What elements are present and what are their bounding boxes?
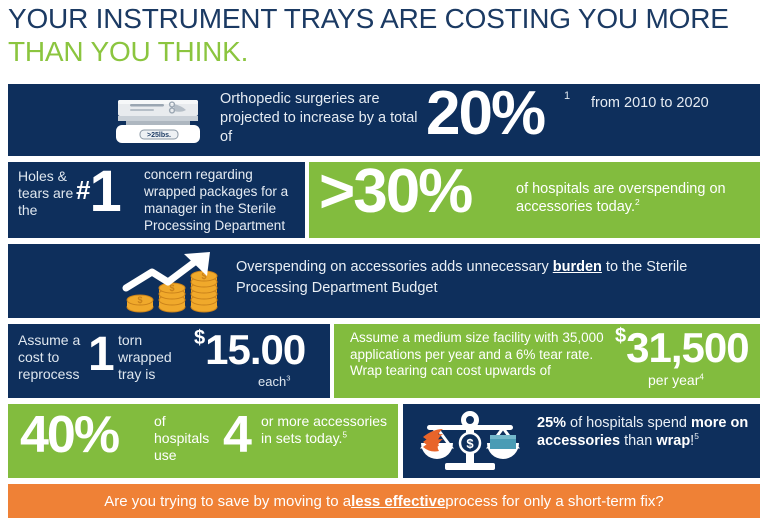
row5-right-stat: 25% [537,415,566,431]
row5-right-text: 25% of hospitals spend more on accessori… [537,414,753,450]
row4-right-unit-footnote: 4 [699,372,704,381]
balance-scale-icon: $ [415,411,527,471]
row3-text-before: Overspending on accessories adds unneces… [236,259,553,275]
svg-text:$: $ [466,436,474,451]
infographic-page: YOUR INSTRUMENT TRAYS ARE COSTING YOU MO… [0,0,768,526]
row5-percent-value: 40% [20,398,118,472]
row4-left-count: 1 [88,318,115,392]
row5-count-footnote: 5 [342,430,347,439]
currency-symbol: $ [615,325,626,347]
row4-right-unit-label: per year [648,372,699,388]
row2-stat-value: >30% [319,154,471,230]
stat-panel-number-one-concern: Holes & tears are the #1 concern regardi… [8,162,305,238]
page-title: YOUR INSTRUMENT TRAYS ARE COSTING YOU MO… [8,2,760,80]
svg-text:$: $ [137,295,142,305]
row5-count-label: or more accessories in sets today.5 [261,413,391,447]
row5-count-value: 4 [223,398,252,472]
footer-text-before: Are you trying to save by moving to a [104,493,351,510]
row4-left-amount: $15.00 [194,326,305,374]
statement-panel-budget-burden: $ $ $ Overspending on accessories adds u… [8,244,760,318]
row5-percent-label: of hospitals use [154,413,220,464]
row4-left-unit-footnote: 3 [286,374,290,383]
row3-text-bold: burden [553,259,602,275]
row1-years-range: from 2010 to 2020 [591,94,709,113]
row5-right-text-tail: than [624,433,656,449]
headline-line-2: THAN YOU THINK. [8,35,760,68]
stat-panel-annual-cost: Assume a medium size facility with 35,00… [334,324,760,398]
stat-panel-overspending: >30% of hospitals are overspending on ac… [309,162,760,238]
footer-text: Are you trying to save by moving to a le… [8,484,760,518]
row2-rank-number: 1 [89,159,120,224]
footer-callout: Are you trying to save by moving to a le… [8,484,760,518]
row1-stat-footnote: 1 [564,90,570,102]
row2-rank-value: #1 [76,152,121,230]
row4-left-unit-label: each [258,374,286,389]
row4-left-middle: torn wrapped tray is [118,332,188,383]
row2-lead-text: Holes & tears are the [18,168,80,219]
headline-line-1: YOUR INSTRUMENT TRAYS ARE COSTING YOU MO… [8,2,760,35]
row5-right-footnote: 5 [694,431,699,441]
row4-left-amount-value: 15.00 [205,326,305,373]
row4-left-lead: Assume a cost to reprocess [18,332,84,383]
row2-description: concern regarding wrapped packages for a… [144,166,304,234]
stat-panel-accessories-vs-wrap: $ 25% of hospitals spend more on accesso… [403,404,760,478]
row1-stat-value: 20% [426,78,544,150]
stat-panel-reprocess-cost: Assume a cost to reprocess 1 torn wrappe… [8,324,330,398]
footer-text-after: process for only a short-term fix? [445,493,663,510]
footer-text-bold: less effective [351,493,445,510]
scale-weight-label: >25lbs. [147,132,171,139]
currency-symbol: $ [194,327,205,349]
row4-right-amount: $31,500 [615,324,749,372]
row4-right-unit: per year4 [648,372,704,388]
stat-panel-accessory-usage: 40% of hospitals use 4 or more accessori… [8,404,398,478]
row2-stat-text: of hospitals are overspending on accesso… [516,180,756,216]
instrument-tray-on-scale-icon: >25lbs. [100,94,218,148]
hash-symbol: # [76,175,89,205]
row5-count-label-text: or more accessories in sets today. [261,413,387,446]
row5-right-bold-tail: wrap [656,433,690,449]
stat-panel-orthopedic-surgeries: >25lbs. Orthopedic surgeries are project… [8,84,760,156]
row2-stat-text-main: of hospitals are overspending on accesso… [516,181,726,215]
row3-statement: Overspending on accessories adds unneces… [236,257,746,299]
rising-coin-stacks-icon: $ $ $ [118,250,240,314]
row1-lead-text: Orthopedic surgeries are projected to in… [220,90,425,147]
row4-left-unit: each3 [258,374,290,389]
row5-right-text-mid: of hospitals spend [566,415,691,431]
row4-right-amount-value: 31,500 [626,324,748,371]
row4-right-text: Assume a medium size facility with 35,00… [350,330,605,380]
row2-stat-footnote: 2 [635,197,640,207]
